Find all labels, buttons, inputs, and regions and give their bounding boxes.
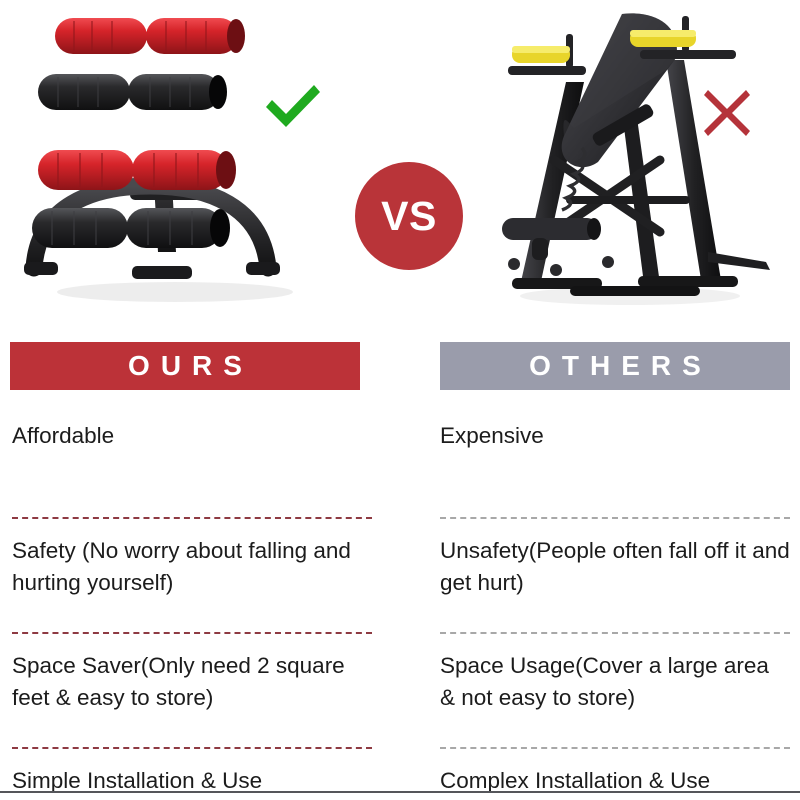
banner-others: OTHERS	[440, 342, 790, 390]
close-icon	[702, 88, 752, 138]
feature-row: Space Saver(Only need 2 square feet & ea…	[12, 634, 372, 747]
comparison-table: Affordable Safety (No worry about fallin…	[0, 404, 800, 792]
base-rail-rear	[638, 276, 738, 287]
wheel-left	[508, 258, 520, 270]
check-icon	[262, 82, 324, 130]
wheel-mid	[602, 256, 614, 268]
comparison-infographic: VS OURS OTHERS Affordable Safety (No wor…	[0, 0, 800, 800]
mid-crossbar	[566, 196, 690, 204]
feature-text: Expensive	[440, 420, 790, 452]
comparison-column-others: Expensive Unsafety(People often fall off…	[400, 404, 800, 792]
feature-text: Unsafety(People often fall off it and ge…	[440, 535, 790, 599]
product-shadow	[57, 282, 293, 302]
feature-text: Affordable	[12, 420, 372, 452]
roller-black-upper	[38, 74, 227, 110]
roller-black-lower	[32, 208, 230, 248]
base-crossbar	[570, 286, 700, 296]
wheel-right	[550, 264, 562, 276]
feature-text: Safety (No worry about falling and hurti…	[12, 535, 372, 599]
hero-section: VS	[0, 0, 800, 330]
bottom-divider	[0, 791, 800, 793]
frame-foot-right	[246, 262, 280, 275]
frame-foot-left	[24, 262, 58, 275]
vs-badge: VS	[355, 162, 463, 270]
ankle-roller	[502, 218, 601, 260]
feature-row: Affordable	[12, 404, 372, 517]
roller-red-upper	[55, 18, 245, 54]
comparison-column-ours: Affordable Safety (No worry about fallin…	[0, 404, 400, 792]
handle-pad-right	[630, 30, 696, 47]
feature-row: Unsafety(People often fall off it and ge…	[440, 519, 790, 632]
banner-ours: OURS	[10, 342, 360, 390]
handlebar-left	[508, 66, 586, 75]
feature-row: Safety (No worry about falling and hurti…	[12, 519, 372, 632]
product-image-others	[470, 0, 800, 330]
feature-text: Space Usage(Cover a large area & not eas…	[440, 650, 790, 714]
product-image-ours	[0, 0, 345, 330]
handle-pad-left	[512, 46, 570, 63]
feature-text: Space Saver(Only need 2 square feet & ea…	[12, 650, 372, 714]
feature-row: Expensive	[440, 404, 790, 517]
feature-row: Space Usage(Cover a large area & not eas…	[440, 634, 790, 747]
handlebar-right	[640, 50, 736, 59]
frame-foot-center	[132, 266, 192, 279]
